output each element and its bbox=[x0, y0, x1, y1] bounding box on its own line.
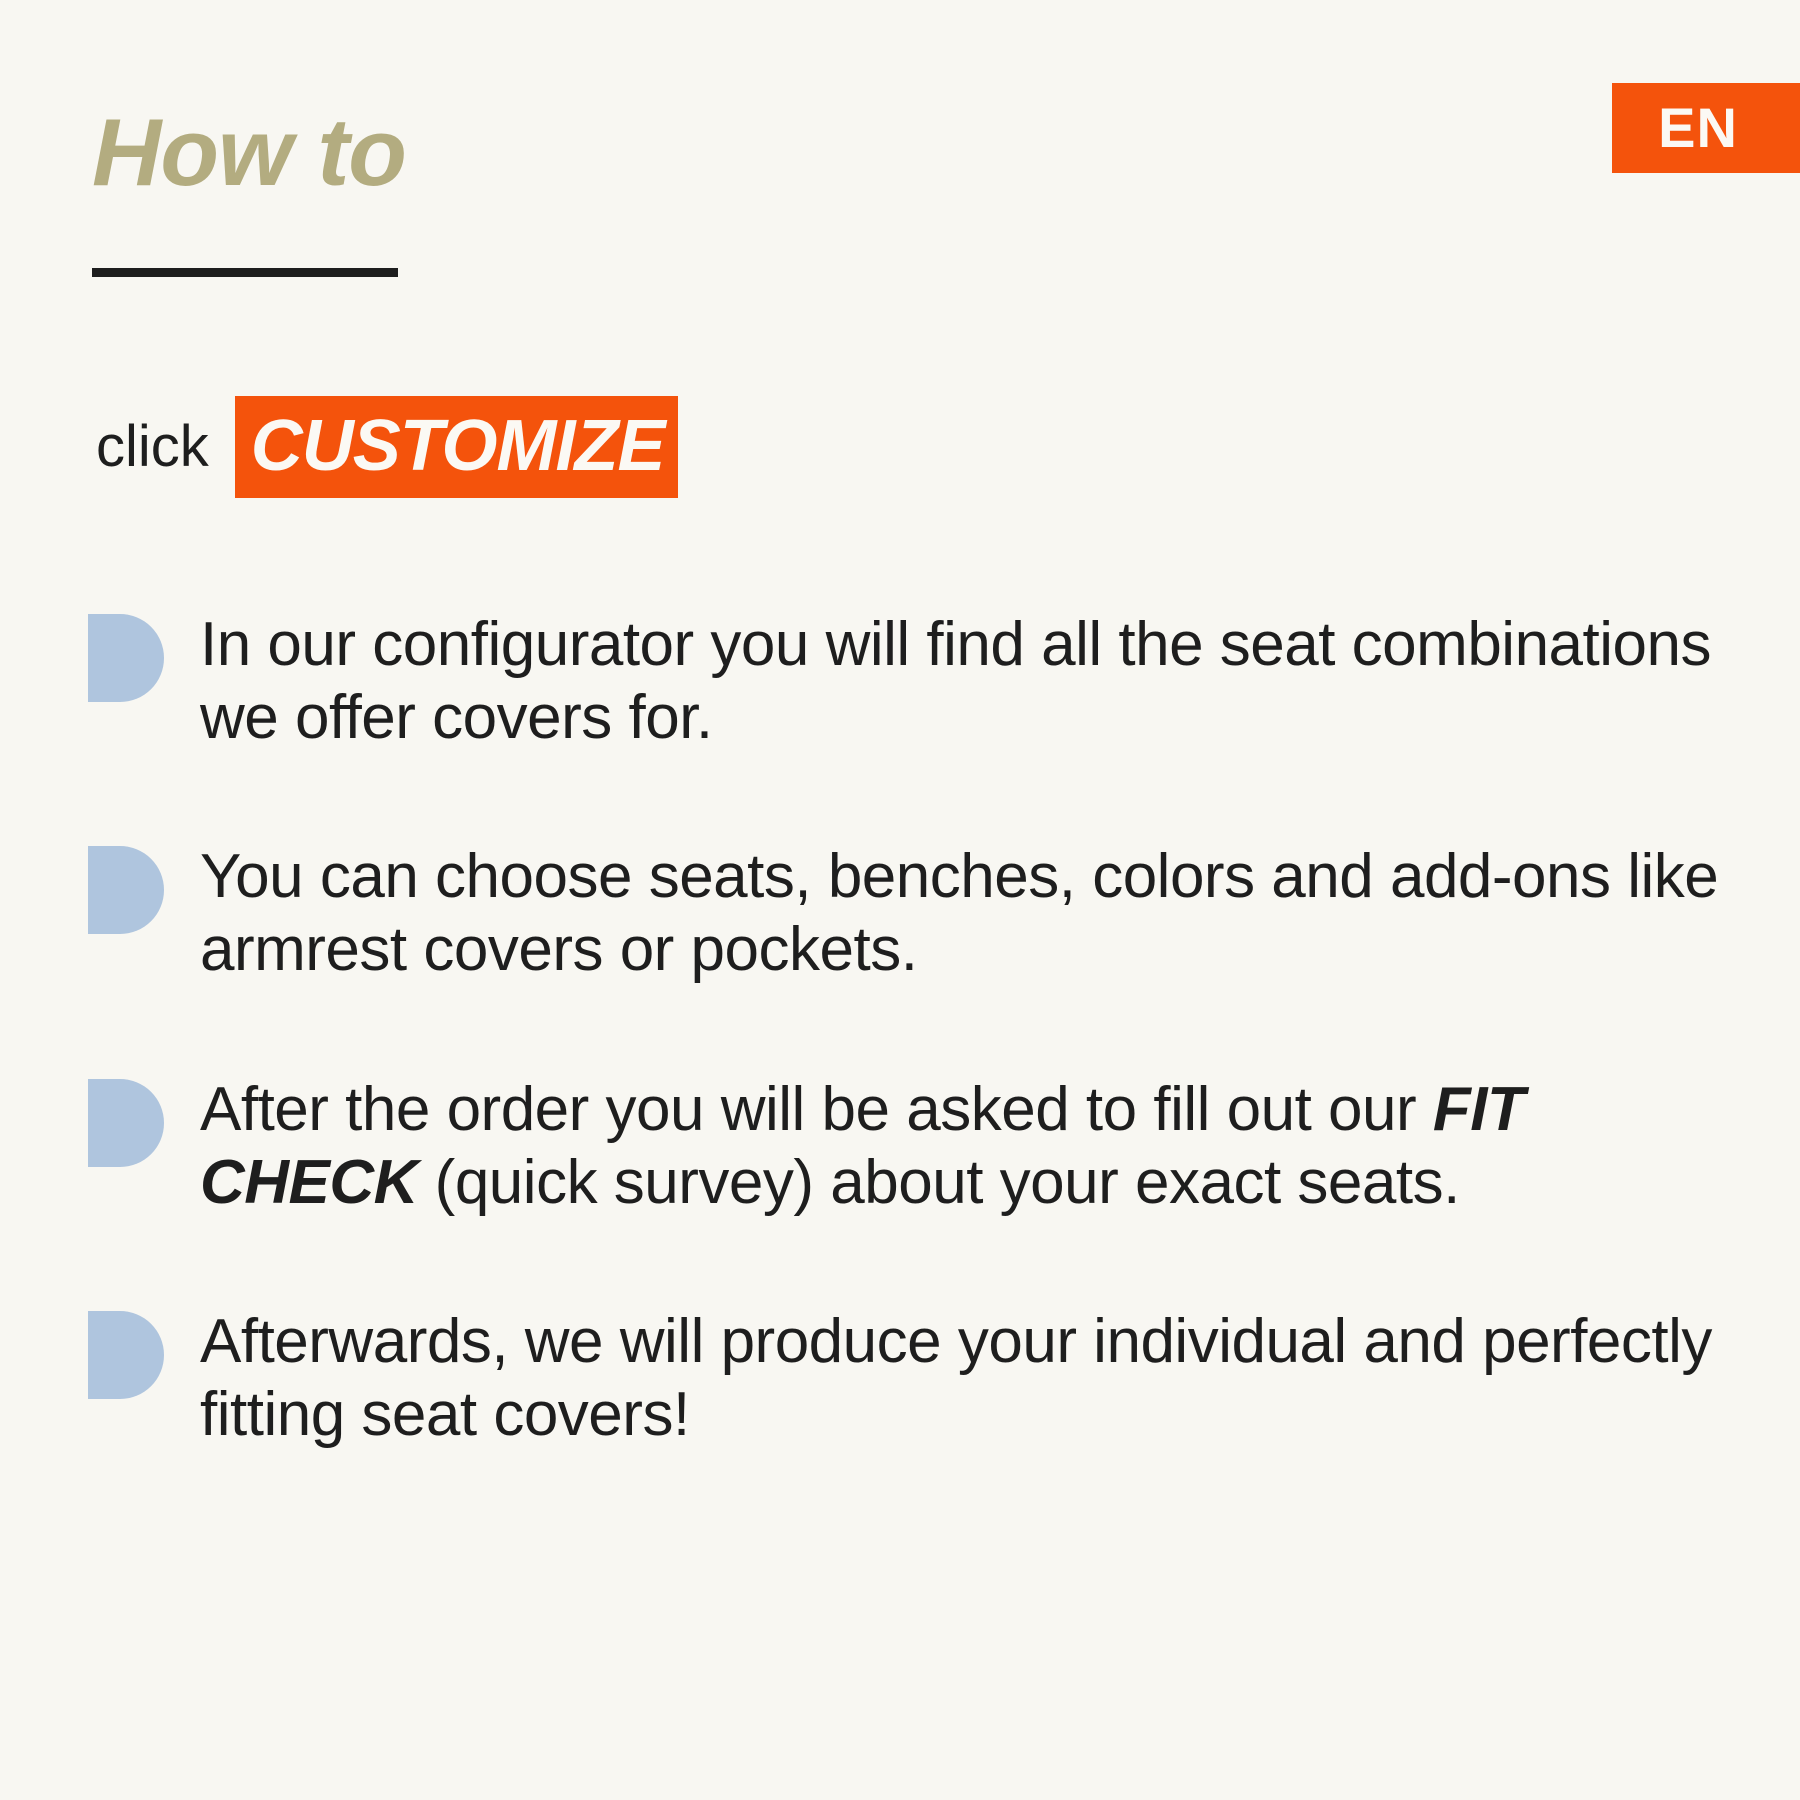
language-badge-label: EN bbox=[1658, 100, 1754, 156]
bullet-marker-icon bbox=[88, 1311, 164, 1399]
how-to-card: EN How to click CUSTOMIZE In our configu… bbox=[0, 0, 1800, 1800]
list-item-text-before: After the order you will be asked to fil… bbox=[200, 1075, 1433, 1144]
page-title-block: How to bbox=[92, 105, 406, 201]
steps-list: In our configurator you will find all th… bbox=[88, 608, 1748, 1451]
language-badge[interactable]: EN bbox=[1612, 83, 1800, 173]
bullet-marker-icon bbox=[88, 1079, 164, 1167]
list-item-text: After the order you will be asked to fil… bbox=[200, 1073, 1720, 1219]
title-underline-rule bbox=[92, 268, 398, 277]
bullet-marker-icon bbox=[88, 846, 164, 934]
page-title: How to bbox=[92, 105, 406, 201]
list-item: You can choose seats, benches, colors an… bbox=[88, 840, 1748, 986]
list-item: Afterwards, we will produce your individ… bbox=[88, 1305, 1748, 1451]
cta-line: click CUSTOMIZE bbox=[96, 395, 678, 499]
list-item-text: In our configurator you will find all th… bbox=[200, 608, 1720, 754]
list-item-text-after: (quick survey) about your exact seats. bbox=[418, 1148, 1460, 1217]
list-item-text: Afterwards, we will produce your individ… bbox=[200, 1305, 1720, 1451]
list-item: After the order you will be asked to fil… bbox=[88, 1073, 1748, 1219]
bullet-marker-icon bbox=[88, 614, 164, 702]
list-item: In our configurator you will find all th… bbox=[88, 608, 1748, 754]
customize-button[interactable]: CUSTOMIZE bbox=[235, 396, 679, 498]
list-item-text: You can choose seats, benches, colors an… bbox=[200, 840, 1720, 986]
cta-prefix-label: click bbox=[96, 418, 209, 476]
